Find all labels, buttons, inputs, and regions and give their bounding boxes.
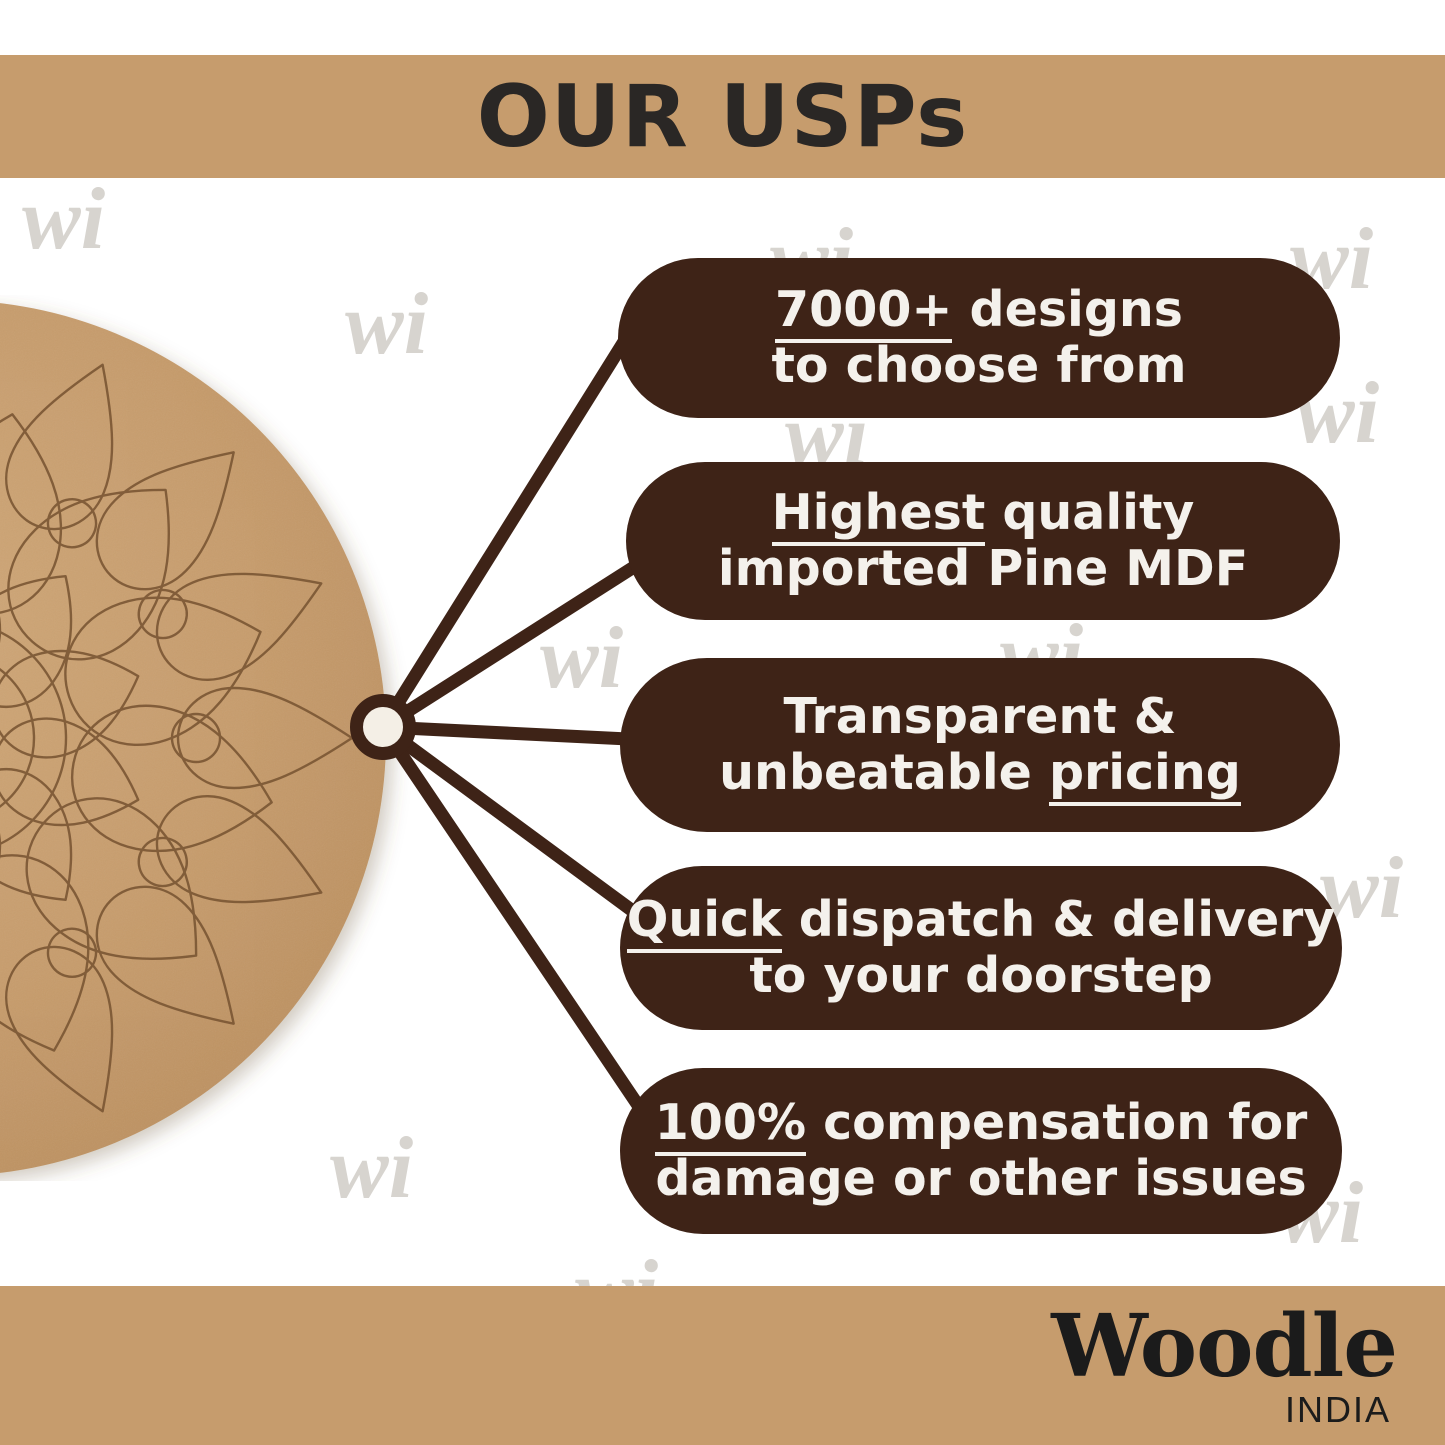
usp-pill-compensation-line1: 100% compensation for (655, 1095, 1308, 1151)
usp-emphasis: pricing (1049, 744, 1241, 806)
usp-emphasis: Highest (772, 484, 986, 546)
usp-emphasis: Quick (627, 891, 782, 953)
usp-pill-quality[interactable]: Highest quality imported Pine MDF (626, 462, 1340, 620)
usp-rest: quality (985, 484, 1194, 541)
page-title: OUR USPs (477, 67, 969, 167)
usp-rest: unbeatable (719, 744, 1049, 801)
usp-pill-compensation-line2: damage or other issues (655, 1151, 1306, 1207)
footer-band: Woodle INDIA (0, 1286, 1445, 1445)
usp-pill-designs[interactable]: 7000+ designs to choose from (618, 258, 1340, 418)
usp-infographic-canvas: wiwiwiwiwiwiwiwiwiwiwiwi (0, 0, 1445, 1445)
watermark-wi-1: wi (22, 176, 105, 264)
brand-subtitle: INDIA (1051, 1392, 1391, 1428)
hub-node-icon (350, 694, 416, 760)
usp-pill-quality-line2: imported Pine MDF (718, 541, 1248, 597)
usp-pill-dispatch-line1: Quick dispatch & delivery (627, 892, 1336, 948)
usp-pill-compensation[interactable]: 100% compensation for damage or other is… (620, 1068, 1342, 1234)
usp-pill-dispatch-line2: to your doorstep (749, 948, 1212, 1004)
usp-rest: compensation for (806, 1094, 1307, 1151)
usp-pill-dispatch[interactable]: Quick dispatch & delivery to your doorst… (620, 866, 1342, 1030)
usp-pill-pricing[interactable]: Transparent & unbeatable pricing (620, 658, 1340, 832)
usp-rest: dispatch & delivery (782, 891, 1336, 948)
usp-emphasis: 100% (655, 1094, 806, 1156)
usp-pill-pricing-line1: Transparent & (784, 689, 1177, 745)
header-band: OUR USPs (0, 55, 1445, 178)
usp-pill-pricing-line2: unbeatable pricing (719, 745, 1241, 801)
brand-name: Woodle (1051, 1304, 1397, 1390)
usp-pill-designs-line2: to choose from (771, 338, 1186, 394)
brand-logo: Woodle INDIA (1051, 1304, 1397, 1428)
usp-emphasis: 7000+ (775, 281, 952, 343)
usp-pill-quality-line1: Highest quality (772, 485, 1195, 541)
usp-rest: designs (952, 281, 1182, 338)
usp-pill-designs-line1: 7000+ designs (775, 282, 1183, 338)
watermark-wi-7: wi (540, 615, 623, 703)
